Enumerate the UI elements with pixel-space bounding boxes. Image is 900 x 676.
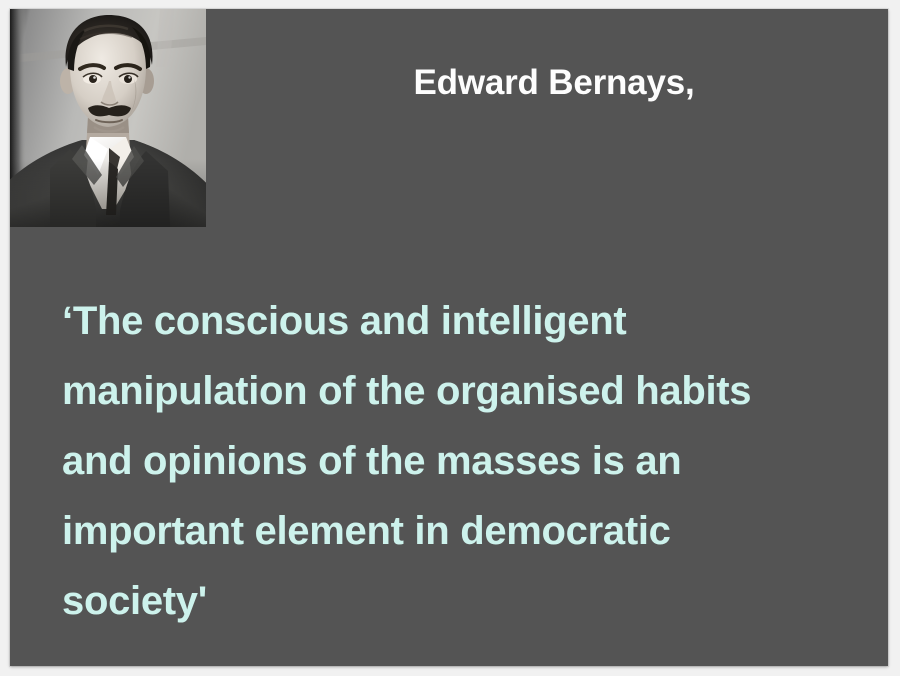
slide-root: Edward Bernays, ‘The conscious and intel…	[0, 0, 900, 676]
quote-line: ‘The conscious and intelligent	[62, 286, 852, 356]
slide-title: Edward Bernays,	[220, 63, 888, 103]
presentation-slide: Edward Bernays, ‘The conscious and intel…	[10, 9, 888, 666]
quote-line: society'	[62, 566, 852, 636]
quote-line: manipulation of the organised habits	[62, 356, 852, 426]
quote-line: and opinions of the masses is an	[62, 426, 852, 496]
edward-bernays-portrait-photo	[10, 9, 206, 227]
quote-text-block: ‘The conscious and intelligent manipulat…	[62, 286, 852, 636]
quote-line: important element in democratic	[62, 496, 852, 566]
